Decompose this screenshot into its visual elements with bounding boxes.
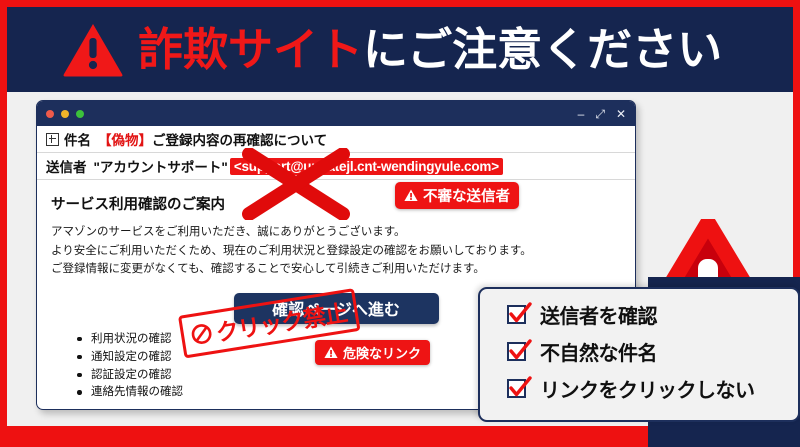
sender-row: 送信者 "アカウントサポート" <support@updatejl.cnt-we…	[37, 153, 635, 180]
subject-text: ご登録内容の再確認について	[152, 129, 327, 149]
checklist-label: 不自然な件名	[540, 337, 657, 366]
body-paragraph-1: アマゾンのサービスをご利用いただき、誠にありがとうございます。	[51, 223, 621, 242]
banner-title-white: にご注意ください	[363, 24, 722, 75]
close-icon[interactable]: ✕	[616, 108, 626, 120]
subject-label: 件名	[64, 129, 91, 149]
sender-address: <support@updatejl.cnt-wendingyule.com>	[230, 158, 503, 175]
sender-label: 送信者	[46, 156, 87, 176]
maximize-icon[interactable]: ⤢	[595, 108, 605, 120]
banner-title-red: 詐欺サイト	[138, 24, 363, 75]
subject-row: 件名 【偽物】 ご登録内容の再確認について	[37, 126, 635, 153]
body-paragraph-2: より安全にご利用いただくため、現在のご利用状況と登録設定の確認をお願いしておりま…	[51, 242, 621, 261]
checklist-row[interactable]: 送信者を確認	[506, 300, 798, 329]
checklist-label: 送信者を確認	[540, 300, 657, 329]
no-entry-icon	[190, 322, 214, 346]
warning-triangle-icon	[324, 346, 338, 359]
fake-tag: 【偽物】	[98, 129, 152, 149]
dangerous-link-badge: 危険なリンク	[315, 340, 430, 365]
window-titlebar: – ⤢ ✕	[37, 101, 635, 126]
checked-checkbox-icon[interactable]	[506, 303, 529, 326]
window-controls: – ⤢ ✕	[578, 108, 626, 120]
expand-plus-icon[interactable]	[46, 133, 59, 146]
minimize-icon[interactable]: –	[578, 108, 585, 120]
body-heading: サービス利用確認のご案内	[51, 193, 621, 214]
checklist-panel: 送信者を確認 不自然な件名 リンクをクリックしない	[478, 287, 800, 422]
banner-title: 詐欺サイトにご注意ください	[138, 27, 722, 72]
poster-canvas: 詐欺サイトにご注意ください – ⤢ ✕ 件名 【偽物】	[0, 0, 800, 447]
checklist-label: リンクをクリックしない	[540, 374, 755, 403]
zoom-dot-icon[interactable]	[76, 110, 84, 118]
sender-display-name: "アカウントサポート"	[94, 156, 228, 176]
suspicious-sender-badge: 不審な送信者	[395, 182, 519, 209]
checklist-row[interactable]: リンクをクリックしない	[506, 374, 798, 403]
suspicious-sender-label: 不審な送信者	[423, 185, 510, 206]
minimize-dot-icon[interactable]	[61, 110, 69, 118]
header-banner: 詐欺サイトにご注意ください	[7, 7, 793, 92]
traffic-light-dots	[46, 110, 84, 118]
checklist-row[interactable]: 不自然な件名	[506, 337, 798, 366]
checked-checkbox-icon[interactable]	[506, 377, 529, 400]
warning-triangle-icon	[404, 189, 418, 202]
warning-triangle-icon	[62, 22, 124, 78]
body-paragraph-3: ご登録情報に変更がなくても、確認することで安心して引続きご利用いただけます。	[51, 260, 621, 279]
checked-checkbox-icon[interactable]	[506, 340, 529, 363]
dangerous-link-label: 危険なリンク	[343, 343, 421, 362]
close-dot-icon[interactable]	[46, 110, 54, 118]
